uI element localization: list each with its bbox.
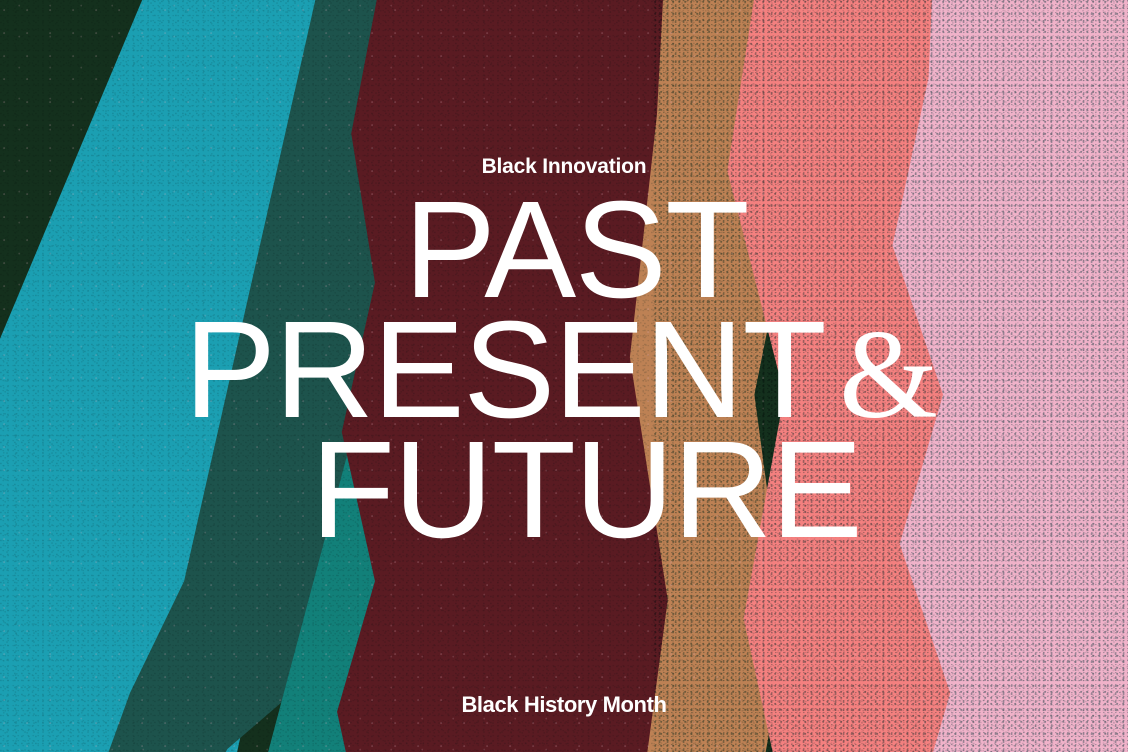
- headline-line-past: PAST: [0, 190, 1128, 310]
- poster-canvas: Black Innovation PAST PRESENT& FUTURE Bl…: [0, 0, 1128, 752]
- headline-line-future: FUTURE: [0, 430, 1128, 550]
- footer-text: Black History Month: [0, 694, 1128, 716]
- headline-line-present: PRESENT&: [0, 310, 1128, 430]
- headline-block: PAST PRESENT& FUTURE: [0, 190, 1128, 551]
